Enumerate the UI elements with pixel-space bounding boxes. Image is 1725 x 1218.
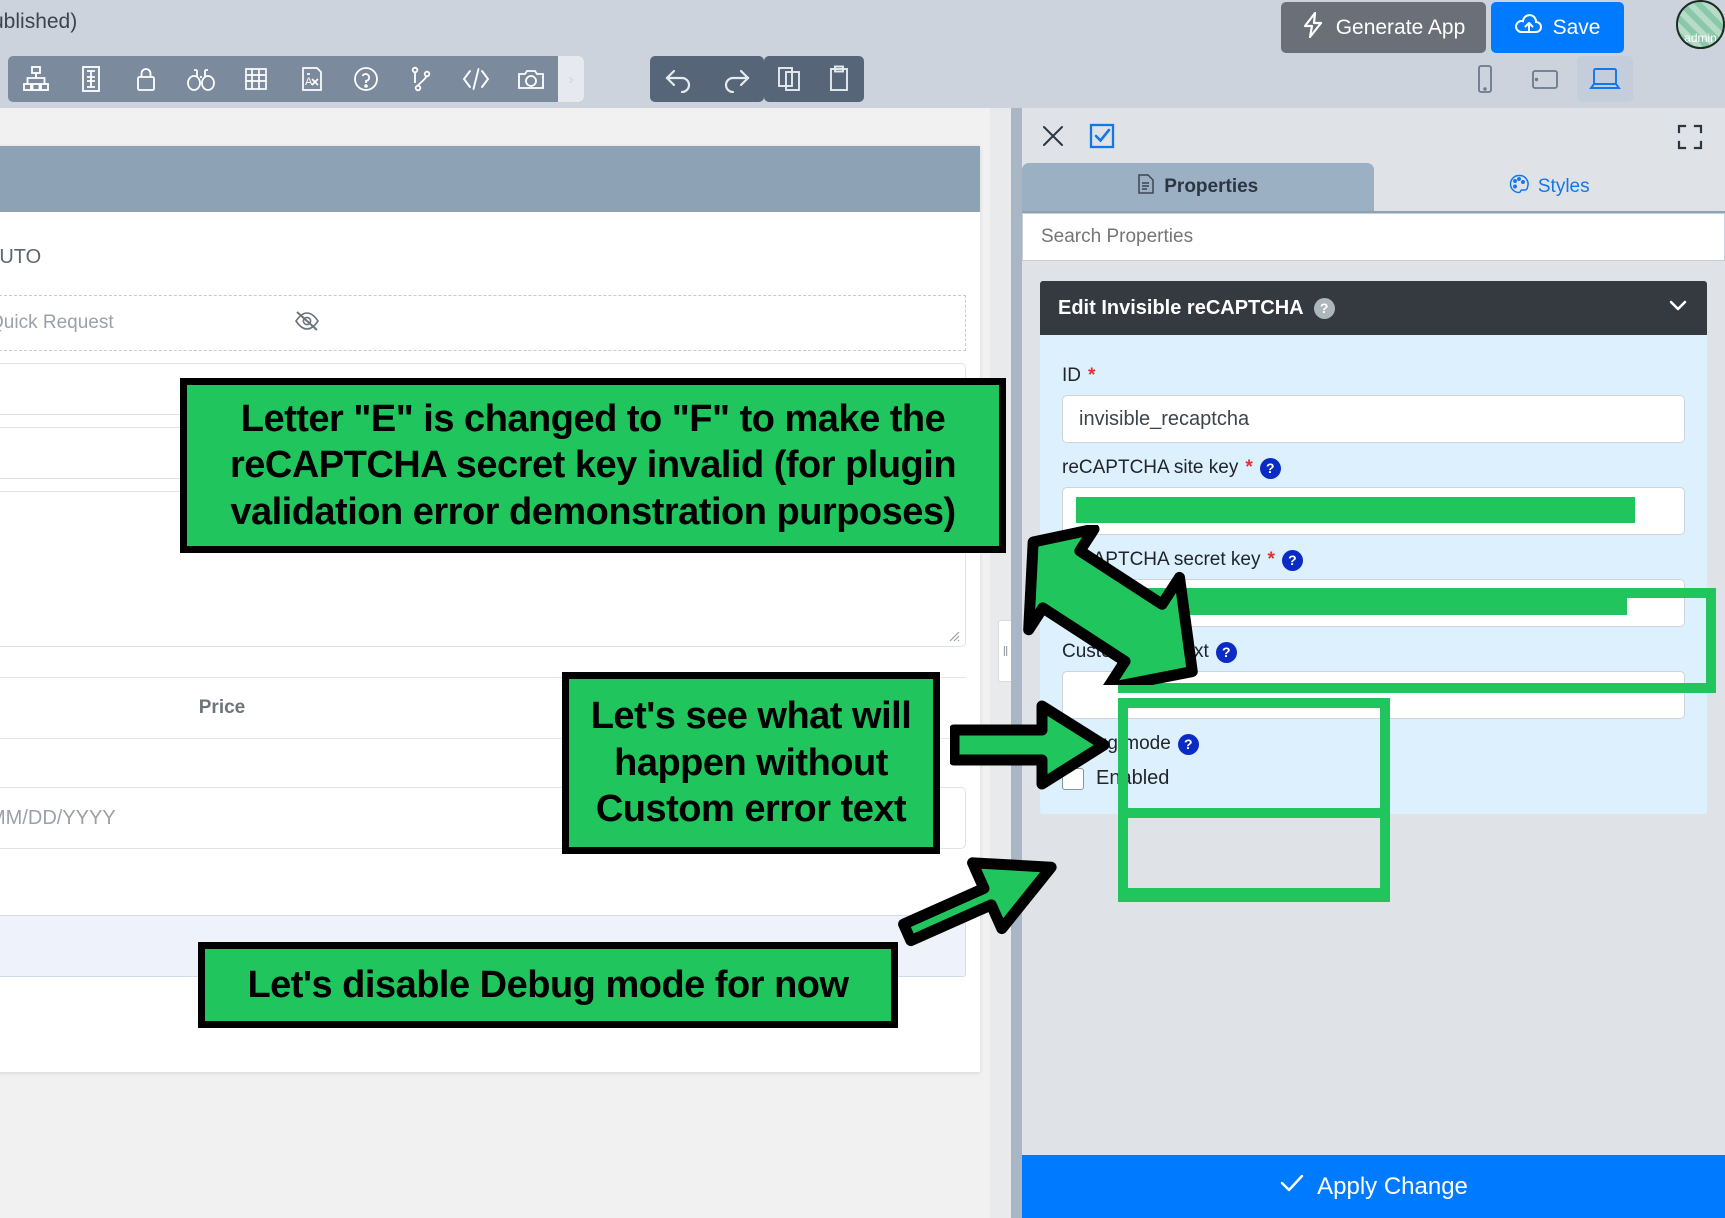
apply-change-button[interactable]: Apply Change [1022, 1155, 1725, 1218]
annotation-custom-error: Let's see what will happen without Custo… [562, 672, 940, 854]
avatar[interactable]: admin [1676, 0, 1725, 49]
form-body: AUTO Quick Request [0, 212, 980, 977]
redo-icon[interactable] [707, 56, 764, 102]
form-field-icon[interactable] [63, 56, 118, 102]
help-circle-icon[interactable]: ? [1178, 734, 1199, 755]
chevron-down-icon[interactable] [1667, 294, 1689, 322]
field-label-site-key: reCAPTCHA site key * ? [1062, 457, 1685, 479]
section-title: Edit Invisible reCAPTCHA [1058, 297, 1304, 320]
required-asterisk: * [1245, 457, 1252, 479]
save-label: Save [1553, 16, 1601, 40]
search-properties-input[interactable] [1039, 225, 1708, 249]
help-circle-icon[interactable]: ? [1260, 458, 1281, 479]
debug-mode-checkbox-row[interactable]: Enabled [1062, 767, 1685, 790]
arrow-to-secret-key [1000, 525, 1220, 685]
help-circle-icon[interactable]: ? [1282, 550, 1303, 571]
table-icon[interactable] [228, 56, 283, 102]
annotation-debug-mode: Let's disable Debug mode for now [198, 942, 898, 1028]
tablet-icon[interactable] [1517, 56, 1573, 102]
undo-icon[interactable] [650, 56, 707, 102]
quick-request-field[interactable]: Quick Request [0, 295, 966, 351]
paste-icon[interactable] [814, 56, 864, 102]
eye-slash-icon[interactable] [294, 310, 320, 337]
tab-properties[interactable]: Properties [1022, 163, 1374, 211]
field-label-id-text: ID [1062, 365, 1081, 387]
document-icon [1137, 174, 1155, 200]
save-button[interactable]: Save [1491, 2, 1624, 53]
annotation-debug-mode-text: Let's disable Debug mode for now [247, 962, 848, 1008]
annotation-secret-key: Letter "E" is changed to "F" to make the… [180, 378, 1006, 553]
redaction-bar [1076, 497, 1635, 523]
main-toolbar: A › [8, 56, 584, 102]
help-circle-icon[interactable] [338, 56, 393, 102]
panel-top-bar [1022, 108, 1725, 163]
quick-request-placeholder: Quick Request [0, 312, 114, 334]
annotation-custom-error-text: Let's see what will happen without Custo… [583, 693, 919, 832]
svg-text:A: A [305, 76, 313, 88]
help-circle-icon[interactable]: ? [1314, 298, 1335, 319]
mobile-icon[interactable] [1457, 56, 1513, 102]
app-root: ublished) Generate App Save admin [0, 0, 1725, 1218]
tab-styles-label: Styles [1538, 176, 1590, 198]
translate-icon[interactable]: A [283, 56, 338, 102]
lightning-bolt-icon [1302, 12, 1324, 44]
tab-properties-label: Properties [1164, 176, 1258, 198]
auto-label: AUTO [0, 212, 966, 295]
branch-icon[interactable] [393, 56, 448, 102]
code-icon[interactable] [448, 56, 503, 102]
desktop-icon[interactable] [1577, 56, 1633, 102]
date-placeholder: MM/DD/YYYY [0, 807, 116, 830]
arrow-to-custom-error-text [950, 700, 1110, 790]
camera-icon[interactable] [503, 56, 558, 102]
field-label-site-key-text: reCAPTCHA site key [1062, 457, 1238, 479]
search-properties-container[interactable] [1022, 213, 1725, 261]
section-header[interactable]: Edit Invisible reCAPTCHA ? [1040, 281, 1707, 335]
design-canvas[interactable]: AUTO Quick Request [0, 108, 990, 1218]
clipboard-toolbar [764, 56, 864, 102]
close-x-icon[interactable] [1040, 123, 1066, 149]
table-header-price: Price [0, 697, 470, 719]
history-toolbar [650, 56, 764, 102]
resize-grip-icon[interactable] [946, 628, 960, 642]
check-icon [1279, 1172, 1305, 1201]
cloud-upload-icon [1515, 14, 1543, 42]
toolbar-more-chevron[interactable]: › [558, 56, 584, 102]
lock-icon[interactable] [118, 56, 173, 102]
top-bar: ublished) Generate App Save admin [0, 0, 1725, 108]
device-toolbar [1457, 56, 1633, 102]
generate-app-button[interactable]: Generate App [1281, 2, 1486, 53]
annotation-secret-key-text: Letter "E" is changed to "F" to make the… [205, 396, 981, 535]
panel-tabs: Properties Styles [1022, 163, 1725, 213]
field-input-id[interactable] [1062, 395, 1685, 443]
required-asterisk: * [1268, 549, 1275, 571]
copy-icon[interactable] [764, 56, 814, 102]
sitemap-icon[interactable] [8, 56, 63, 102]
generate-app-label: Generate App [1336, 16, 1466, 40]
form-header-band [0, 146, 980, 212]
checkbox-checked-icon[interactable] [1088, 122, 1116, 150]
field-wrap-id [1062, 395, 1685, 443]
tab-styles[interactable]: Styles [1374, 163, 1725, 211]
field-label-id: ID * [1062, 365, 1685, 387]
apply-change-label: Apply Change [1317, 1173, 1468, 1201]
palette-icon [1509, 174, 1529, 200]
avatar-label: admin [1684, 31, 1717, 47]
page-title: ublished) [0, 10, 77, 34]
expand-fullscreen-icon[interactable] [1677, 124, 1703, 155]
form-preview-card: AUTO Quick Request [0, 146, 980, 1072]
field-label-debug-mode: Debug mode ? [1062, 733, 1685, 755]
required-asterisk: * [1088, 365, 1095, 387]
binoculars-icon[interactable] [173, 56, 228, 102]
